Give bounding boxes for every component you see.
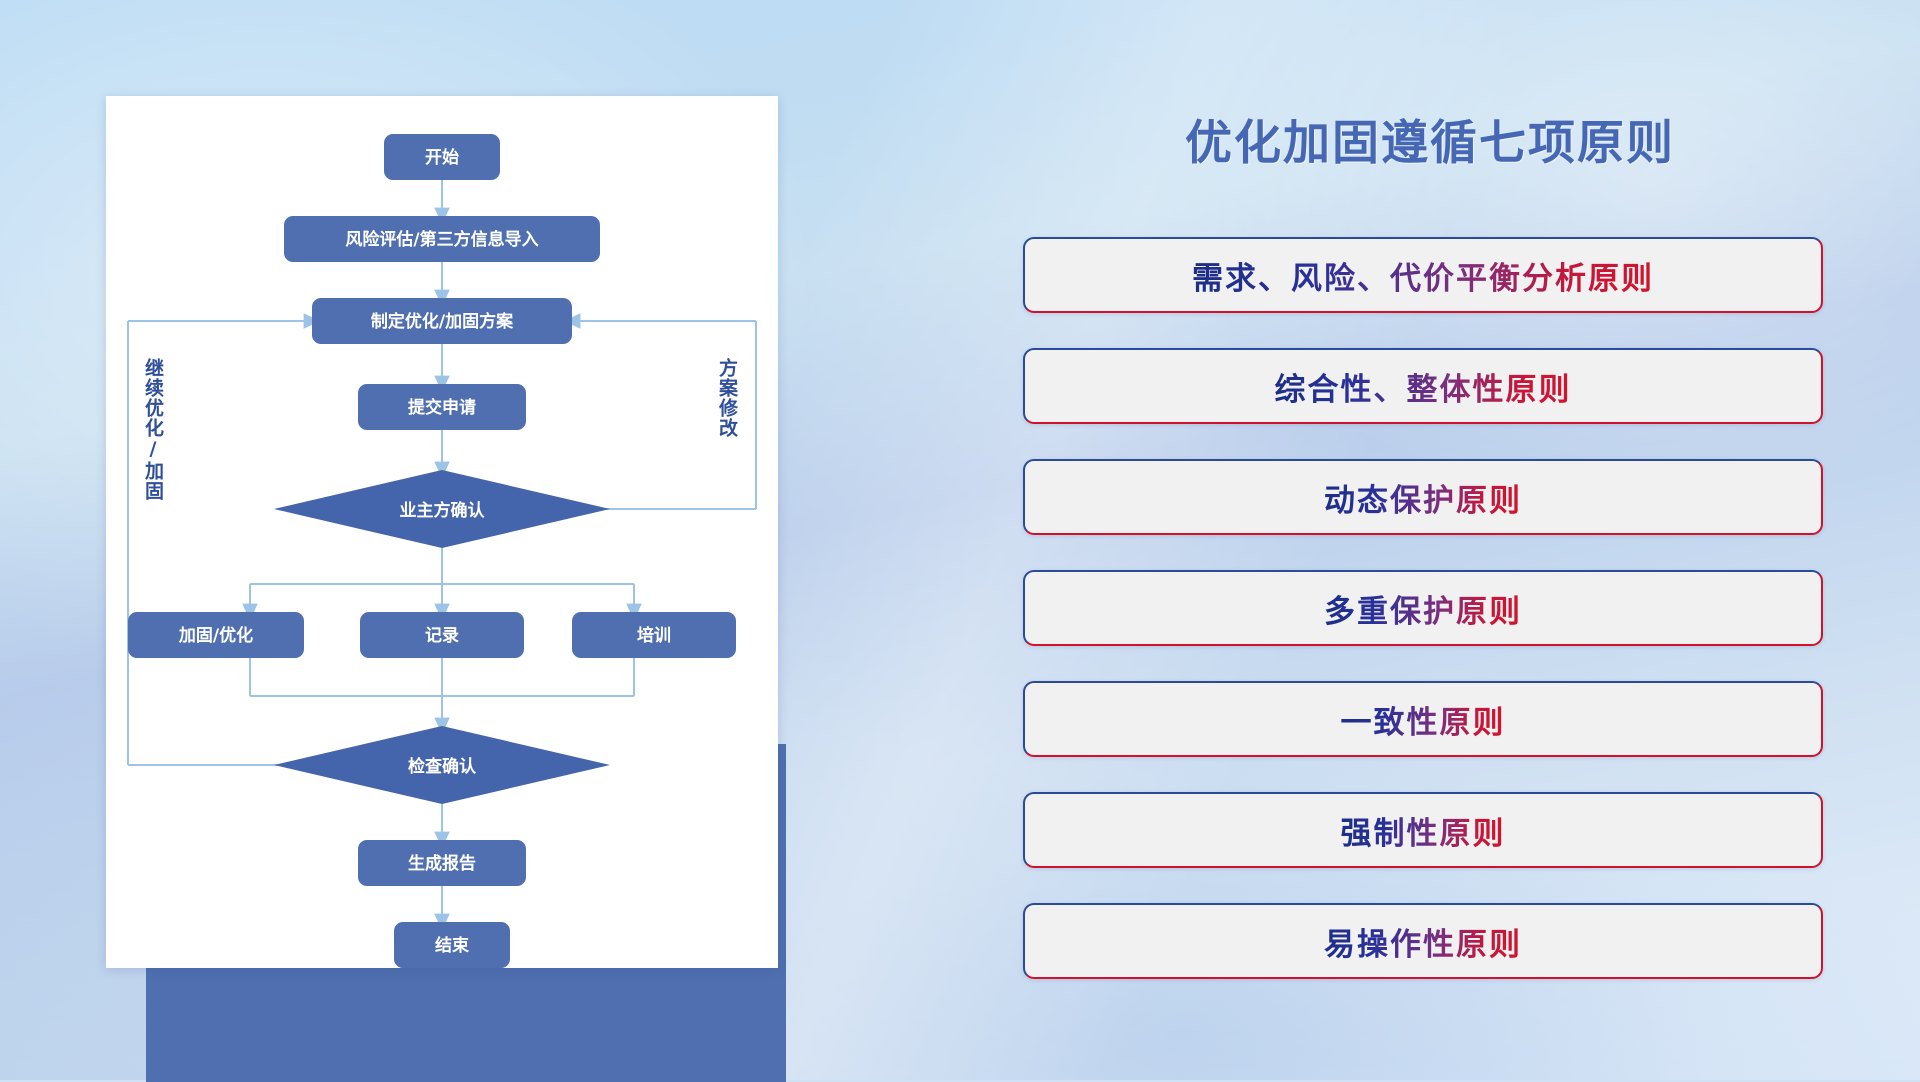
node-risk-assessment: 风险评估/第三方信息导入	[345, 229, 538, 250]
node-end: 结束	[435, 935, 469, 956]
principle-label: 动态保护原则	[1324, 475, 1522, 520]
node-plan: 制定优化/加固方案	[371, 311, 514, 332]
principle-card[interactable]: 动态保护原则	[1023, 459, 1823, 535]
node-owner-confirm: 业主方确认	[400, 500, 486, 521]
node-report: 生成报告	[408, 853, 476, 874]
principle-label: 综合性、整体性原则	[1275, 364, 1572, 409]
node-reinforce: 加固/优化	[178, 625, 253, 646]
principle-label: 需求、风险、代价平衡分析原则	[1192, 253, 1654, 298]
node-submit: 提交申请	[408, 397, 476, 418]
flowchart-panel: 开始 风险评估/第三方信息导入 制定优化/加固方案 提交申请 业主方确认 加固/…	[106, 96, 784, 982]
flowchart-card: 开始 风险评估/第三方信息导入 制定优化/加固方案 提交申请 业主方确认 加固/…	[106, 96, 778, 968]
principle-card[interactable]: 多重保护原则	[1023, 570, 1823, 646]
flowchart-diagram: 开始 风险评估/第三方信息导入 制定优化/加固方案 提交申请 业主方确认 加固/…	[106, 96, 778, 968]
principle-label: 强制性原则	[1341, 808, 1506, 853]
page-title: 优化加固遵循七项原则	[1020, 104, 1840, 173]
principles-panel: 优化加固遵循七项原则 需求、风险、代价平衡分析原则 综合性、整体性原则 动态保护…	[1020, 0, 1840, 1080]
loop-label-left: 继续优化/加固	[142, 358, 162, 501]
principle-label: 多重保护原则	[1324, 586, 1522, 631]
principle-label: 一致性原则	[1341, 697, 1506, 742]
node-start: 开始	[425, 147, 459, 168]
principle-card[interactable]: 需求、风险、代价平衡分析原则	[1023, 237, 1823, 313]
principle-card[interactable]: 强制性原则	[1023, 792, 1823, 868]
principle-list: 需求、风险、代价平衡分析原则 综合性、整体性原则 动态保护原则 多重保护原则 一…	[1023, 237, 1823, 979]
node-training: 培训	[637, 625, 671, 646]
node-check-confirm: 检查确认	[408, 756, 477, 777]
principle-label: 易操作性原则	[1324, 919, 1522, 964]
loop-label-right: 方案修改	[716, 358, 736, 438]
principle-card[interactable]: 综合性、整体性原则	[1023, 348, 1823, 424]
node-record: 记录	[425, 626, 459, 646]
principle-card[interactable]: 一致性原则	[1023, 681, 1823, 757]
principle-card[interactable]: 易操作性原则	[1023, 903, 1823, 979]
